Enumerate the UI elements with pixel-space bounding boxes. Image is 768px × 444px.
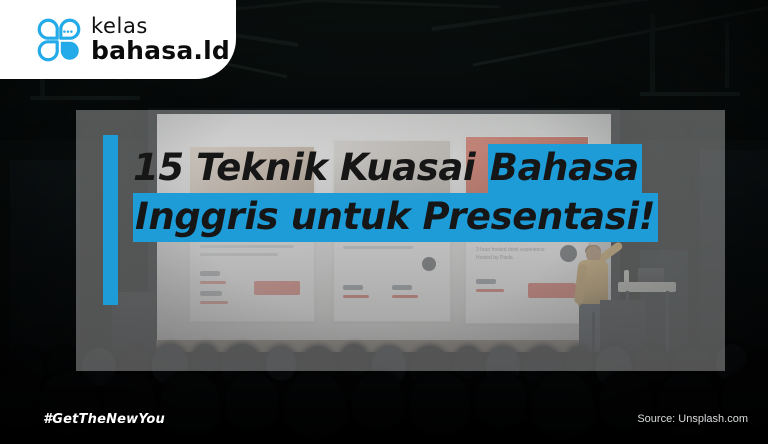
- slide-card-line: [343, 246, 413, 249]
- slide-card-line: [476, 289, 504, 292]
- headline-line-1-highlight: Bahasa: [488, 144, 642, 193]
- ceiling-post: [650, 14, 655, 92]
- slide-card-button: [254, 281, 300, 295]
- audience-head-front: [410, 372, 470, 436]
- slide-card-subtext: 3 hour hosted drink experienceHosted by …: [476, 247, 562, 262]
- slide-card-avatar: [422, 257, 436, 271]
- clover-four-petal-chat-icon: [36, 17, 82, 63]
- audience-head-front: [284, 372, 346, 438]
- laptop: [638, 268, 664, 283]
- headline: 15 Teknik Kuasai Bahasa Inggris untuk Pr…: [133, 143, 733, 241]
- slide-card-line: [200, 253, 278, 256]
- slide-card-line: [476, 279, 496, 284]
- logo-line-1: kelas: [91, 16, 230, 37]
- source-credit: Source: Unsplash.com: [637, 413, 748, 425]
- slide-card-line: [200, 301, 228, 304]
- slide-card-line: [343, 295, 369, 298]
- audience-head-front: [0, 372, 44, 428]
- audience-head-front: [532, 372, 594, 438]
- logo-banner[interactable]: kelas bahasa.ld: [0, 0, 236, 79]
- ceiling-beam: [30, 96, 140, 100]
- audience-head: [266, 346, 296, 380]
- logo-wordmark: kelas bahasa.ld: [91, 16, 230, 63]
- slide-card-line: [200, 245, 294, 248]
- hashtag-label: #GetTheNewYou: [43, 412, 165, 427]
- audience-head: [454, 346, 482, 378]
- logo-line-2: bahasa.ld: [91, 38, 230, 63]
- audience-head: [192, 344, 218, 374]
- headline-line-1-plain: 15 Teknik Kuasai: [133, 146, 488, 189]
- ceiling-beam: [640, 92, 740, 96]
- accent-bar: [103, 135, 118, 305]
- audience-head-front: [160, 372, 220, 436]
- headline-line-2: Inggris untuk Presentasi!: [133, 192, 733, 241]
- thumbnail-canvas: Pop-upRestaurant Tour 3 hour hosted drin…: [0, 0, 768, 444]
- slide-card-line: [200, 271, 220, 276]
- slide-card-line: [343, 285, 363, 290]
- slide-card-line: [200, 291, 222, 296]
- slide-card-line: [200, 281, 226, 284]
- audience-head-front: [658, 372, 718, 436]
- ceiling-truss: [473, 4, 768, 66]
- audience-head-front: [476, 372, 526, 426]
- audience-head-front: [226, 372, 278, 428]
- ceiling-truss: [300, 0, 500, 8]
- audience-head: [566, 346, 592, 376]
- audience-head: [340, 344, 368, 376]
- slide-card-line: [392, 285, 412, 290]
- audience-head-front: [352, 372, 404, 428]
- slide-card-line: [392, 295, 418, 298]
- headline-line-1: 15 Teknik Kuasai Bahasa: [133, 143, 733, 192]
- ceiling-post: [725, 22, 729, 88]
- headline-line-2-highlight: Inggris untuk Presentasi!: [133, 193, 658, 242]
